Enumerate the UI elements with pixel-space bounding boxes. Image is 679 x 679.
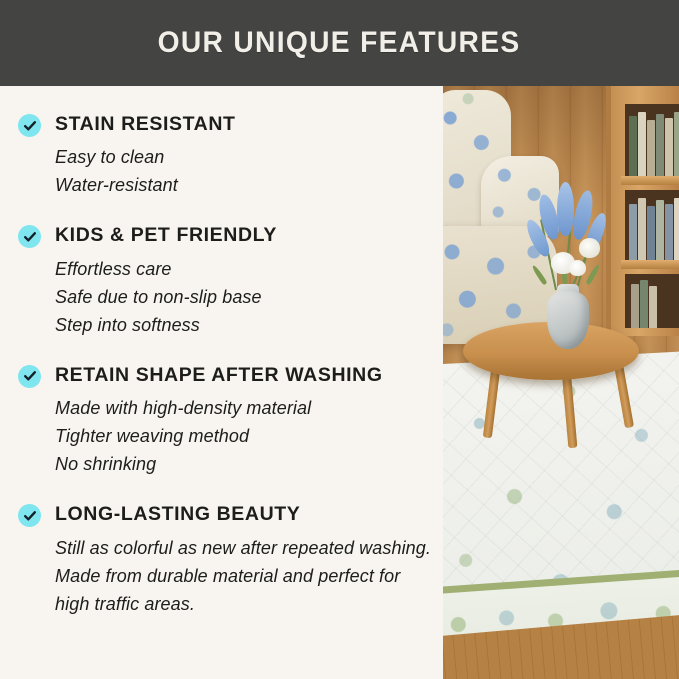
feature-line: Water-resistant <box>55 171 435 199</box>
feature-item: RETAIN SHAPE AFTER WASHING Made with hig… <box>18 363 435 478</box>
feature-title: RETAIN SHAPE AFTER WASHING <box>55 363 435 387</box>
ceramic-vase <box>547 291 589 349</box>
feature-title: LONG-LASTING BEAUTY <box>55 502 435 526</box>
bookshelf-row <box>625 274 679 328</box>
blue-delphinium <box>557 182 574 236</box>
feature-line: Step into softness <box>55 311 435 339</box>
check-circle-icon <box>18 225 41 248</box>
feature-item: LONG-LASTING BEAUTY Still as colorful as… <box>18 502 435 617</box>
bookshelf-board <box>621 260 679 269</box>
check-circle-icon <box>18 504 41 527</box>
feature-title: KIDS & PET FRIENDLY <box>55 223 435 247</box>
feature-lines: Easy to clean Water-resistant <box>55 143 435 199</box>
feature-lines: Made with high-density material Tighter … <box>55 394 435 478</box>
feature-line: Effortless care <box>55 255 435 283</box>
check-circle-icon <box>18 365 41 388</box>
feature-item: KIDS & PET FRIENDLY Effortless care Safe… <box>18 223 435 338</box>
page-title: OUR UNIQUE FEATURES <box>158 26 521 60</box>
feature-lines: Effortless care Safe due to non-slip bas… <box>55 255 435 339</box>
white-rose <box>569 260 586 276</box>
feature-highlight-graphic: OUR UNIQUE FEATURES STAIN RESISTANT Easy… <box>0 0 679 679</box>
feature-line: Easy to clean <box>55 143 435 171</box>
feature-item: STAIN RESISTANT Easy to clean Water-resi… <box>18 112 435 199</box>
check-circle-icon <box>18 114 41 137</box>
bookshelf-board <box>621 176 679 185</box>
feature-line: No shrinking <box>55 450 435 478</box>
feature-paragraph: Still as colorful as new after repeated … <box>55 534 435 618</box>
bookshelf <box>606 86 679 336</box>
product-lifestyle-photo <box>443 86 679 679</box>
feature-line: Safe due to non-slip base <box>55 283 435 311</box>
features-panel: STAIN RESISTANT Easy to clean Water-resi… <box>0 86 443 679</box>
feature-line: Tighter weaving method <box>55 422 435 450</box>
bookshelf-row <box>625 104 679 178</box>
photo-scene <box>443 86 679 679</box>
header-bar: OUR UNIQUE FEATURES <box>0 0 679 86</box>
bookshelf-row <box>625 190 679 262</box>
feature-title: STAIN RESISTANT <box>55 112 435 136</box>
white-rose <box>579 238 600 258</box>
feature-line: Made with high-density material <box>55 394 435 422</box>
